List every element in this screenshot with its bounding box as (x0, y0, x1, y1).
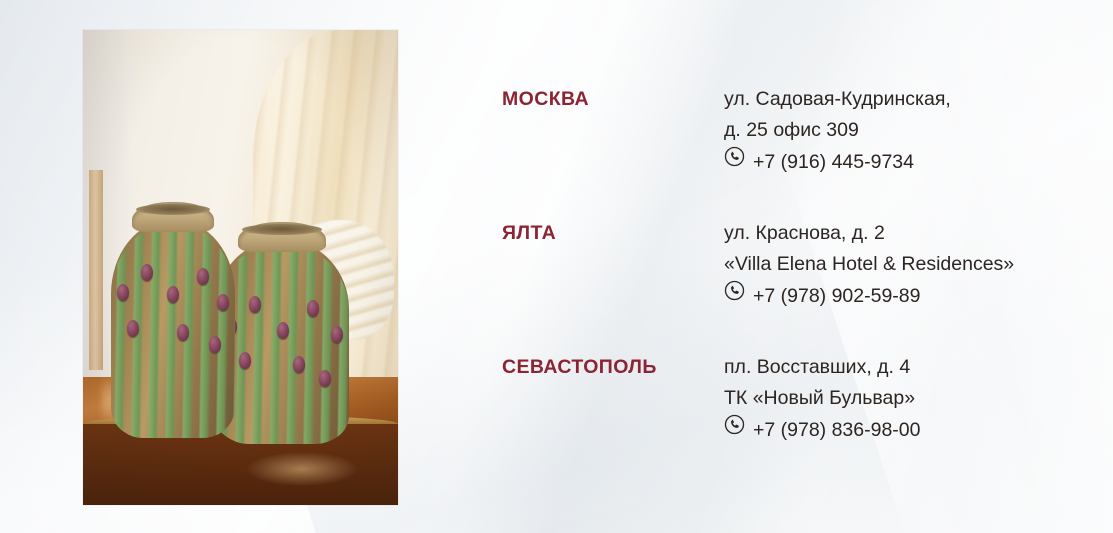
vase-berry (197, 268, 209, 285)
vase-green-stems (215, 244, 349, 444)
vases-photo (83, 30, 398, 505)
vase-berry (117, 284, 129, 301)
phone-row[interactable]: +7 (978) 836-98-00 (724, 414, 1082, 446)
contact-details-sevastopol: пл. Восставших, д. 4 ТК «Новый Бульвар» … (724, 352, 1082, 446)
address-line: пл. Восставших, д. 4 (724, 352, 1082, 383)
vase-berry (249, 296, 261, 313)
phone-icon (724, 414, 745, 446)
vase-berry (209, 336, 221, 353)
vase-berry (331, 326, 343, 343)
vase-berry (141, 264, 153, 281)
phone-row[interactable]: +7 (916) 445-9734 (724, 146, 1082, 178)
vase-berry (293, 356, 305, 373)
contact-row-sevastopol: СЕВАСТОПОЛЬ пл. Восставших, д. 4 ТК «Нов… (502, 352, 1082, 446)
vase-berry (239, 352, 251, 369)
vase-rim (242, 224, 322, 235)
city-label-sevastopol: СЕВАСТОПОЛЬ (502, 352, 724, 383)
address-line: ТК «Новый Бульвар» (724, 383, 1082, 414)
address-line: д. 25 офис 309 (724, 115, 1082, 146)
contact-row-moscow: МОСКВА ул. Садовая-Кудринская, д. 25 офи… (502, 84, 1082, 178)
contact-details-moscow: ул. Садовая-Кудринская, д. 25 офис 309 +… (724, 84, 1082, 178)
phone-number: +7 (916) 445-9734 (753, 147, 914, 178)
phone-row[interactable]: +7 (978) 902-59-89 (724, 280, 1082, 312)
vase-berry (167, 286, 179, 303)
vase-rim (136, 204, 210, 215)
vase-berry (217, 294, 229, 311)
phone-number: +7 (978) 836-98-00 (753, 415, 921, 446)
photo-vase-left (111, 202, 235, 438)
contact-list: МОСКВА ул. Садовая-Кудринская, д. 25 офи… (502, 84, 1082, 446)
phone-icon (724, 146, 745, 178)
vase-berry (307, 300, 319, 317)
contact-slide: МОСКВА ул. Садовая-Кудринская, д. 25 офи… (0, 0, 1113, 533)
vase-berry (319, 370, 331, 387)
contact-row-yalta: ЯЛТА ул. Краснова, д. 2 «Villa Elena Hot… (502, 218, 1082, 312)
contact-details-yalta: ул. Краснова, д. 2 «Villa Elena Hotel & … (724, 218, 1082, 312)
photo-table-inlay (247, 452, 357, 486)
phone-icon (724, 280, 745, 312)
vase-berry (277, 322, 289, 339)
address-line: ул. Краснова, д. 2 (724, 218, 1082, 249)
address-line: ул. Садовая-Кудринская, (724, 84, 1082, 115)
vase-berry (177, 324, 189, 341)
city-label-moscow: МОСКВА (502, 84, 724, 115)
city-label-yalta: ЯЛТА (502, 218, 724, 249)
photo-vase-right (215, 222, 349, 444)
address-line: «Villa Elena Hotel & Residences» (724, 249, 1082, 280)
vase-berry (127, 320, 139, 337)
photo-door-post (89, 170, 103, 370)
phone-number: +7 (978) 902-59-89 (753, 281, 921, 312)
